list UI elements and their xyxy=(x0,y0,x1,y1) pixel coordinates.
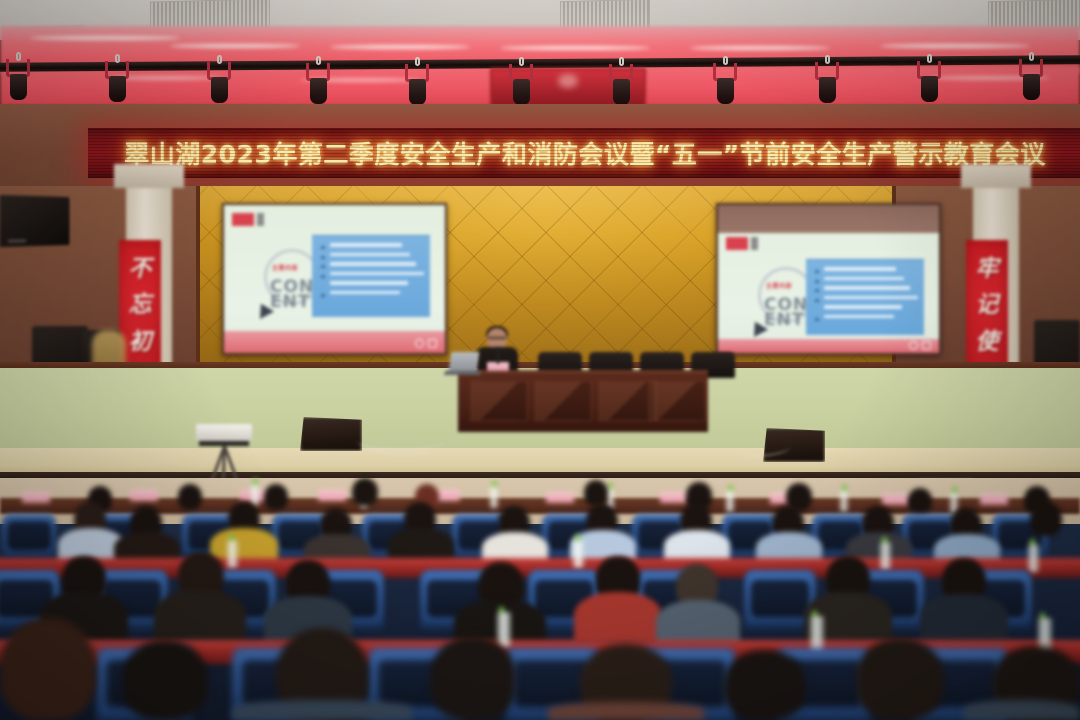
led-banner: 翠山湖2023年第二季度安全生产和消防会议暨“五一”节前安全生产警示教育会议 xyxy=(88,128,1080,178)
projector-body xyxy=(196,424,252,441)
light-can xyxy=(310,78,327,104)
slide-bullet-item xyxy=(318,253,424,259)
stage-light xyxy=(206,55,232,103)
bullet-text xyxy=(330,291,400,295)
banner-left-char-3: 初 xyxy=(129,331,152,354)
attendee-shoulders xyxy=(154,590,246,642)
stage-light xyxy=(1018,52,1044,100)
light-can xyxy=(513,79,530,105)
stage-light xyxy=(404,57,430,105)
bullet-text xyxy=(824,305,902,309)
slide-bullet-item xyxy=(318,262,424,268)
floor-monitor-left xyxy=(300,417,362,451)
screen-top-shadow xyxy=(718,205,939,233)
water-bottle xyxy=(227,540,238,568)
bullet-marker xyxy=(814,317,820,321)
light-can xyxy=(109,76,126,102)
slide-logo-gray xyxy=(751,237,758,250)
light-streak xyxy=(330,45,470,49)
stage-light xyxy=(916,54,942,102)
column-capital xyxy=(114,164,184,188)
light-can xyxy=(409,79,426,105)
bullet-marker xyxy=(320,264,326,268)
water-bottle xyxy=(497,612,511,648)
attendee-head-foreground xyxy=(856,638,944,720)
projection-screen-right: 主要内容 CONT ENTS xyxy=(716,203,941,355)
stage-light xyxy=(608,57,634,105)
attendee-head xyxy=(352,478,378,506)
banner-left-char-1: 不 xyxy=(129,258,152,281)
slide-bullet-item xyxy=(812,286,918,292)
attendee-head-foreground xyxy=(0,618,96,720)
microphone-icon xyxy=(497,348,499,364)
slide-bullet-item xyxy=(812,296,918,302)
water-bottle xyxy=(810,616,824,652)
attendee-head-foreground xyxy=(122,640,208,720)
stage-light xyxy=(508,57,534,105)
slide-logo-red xyxy=(726,237,748,250)
podium-panel xyxy=(648,381,706,421)
stage-light xyxy=(814,55,840,103)
water-bottle xyxy=(726,490,734,512)
attendee-head xyxy=(584,480,608,506)
slide-logo xyxy=(726,237,760,250)
name-placard xyxy=(882,494,910,505)
slide-footer-band xyxy=(224,331,445,353)
banner-right-char-3: 使 xyxy=(976,331,999,354)
name-placard xyxy=(546,492,574,503)
attendee-shoulders-foreground xyxy=(232,700,412,720)
slide-bullet-box xyxy=(806,259,924,335)
slide-red-tag: 主要内容 xyxy=(272,263,298,272)
led-banner-text: 翠山湖2023年第二季度安全生产和消防会议暨“五一”节前安全生产警示教育会议 xyxy=(124,135,1045,171)
slide-logo-red xyxy=(232,213,254,226)
bullet-marker xyxy=(320,274,326,278)
attendee-head-foreground xyxy=(724,650,806,720)
podium-panel xyxy=(470,381,528,421)
banner-left-char-2: 忘 xyxy=(129,294,152,317)
name-placard xyxy=(22,492,50,503)
slide-bullet-item xyxy=(318,243,424,249)
bullet-marker xyxy=(814,279,820,283)
slide-bullet-item xyxy=(812,315,918,321)
stage-light xyxy=(104,54,130,102)
wall-speaker-left xyxy=(0,195,69,247)
bullet-marker xyxy=(814,269,820,273)
light-can xyxy=(1023,74,1040,100)
bullet-text xyxy=(824,286,910,290)
bullet-text xyxy=(330,262,416,266)
slide-red-tag: 主要内容 xyxy=(766,281,792,290)
bullet-marker xyxy=(320,245,326,249)
attendee-shoulders xyxy=(574,592,662,642)
slide-footer-band xyxy=(718,339,939,353)
light-streak xyxy=(690,46,830,50)
slide-indicator-circle xyxy=(909,341,918,350)
bullet-text xyxy=(330,272,424,276)
bullet-text xyxy=(824,277,904,281)
banner-right-char-2: 记 xyxy=(976,294,999,317)
name-placard xyxy=(130,490,158,501)
light-can xyxy=(613,79,630,105)
light-streak xyxy=(30,36,180,40)
attendee-head xyxy=(264,484,288,510)
bullet-text xyxy=(824,315,894,319)
attendee-head xyxy=(178,484,202,510)
stage-light xyxy=(305,56,331,104)
bullet-text xyxy=(330,281,408,285)
slide-bullet-item xyxy=(318,272,424,278)
stage-light xyxy=(5,52,31,100)
name-placard xyxy=(318,490,346,501)
light-can xyxy=(717,78,734,104)
column-capital xyxy=(961,164,1031,188)
water-bottle xyxy=(490,486,498,508)
bullet-marker xyxy=(814,288,820,292)
attendee-shoulders-foreground xyxy=(548,702,704,720)
speaker-brand-label xyxy=(8,239,26,243)
water-bottle xyxy=(573,540,584,568)
bullet-text xyxy=(824,296,918,300)
attendee-shoulders xyxy=(920,594,1008,642)
banner-right-char-1: 牢 xyxy=(976,258,999,281)
slide-bullet-item xyxy=(812,305,918,311)
slide-bullet-item xyxy=(318,291,424,297)
slide-bullet-box xyxy=(312,235,430,317)
water-bottle xyxy=(251,484,259,506)
slide-bullet-item xyxy=(318,281,424,287)
light-streak xyxy=(170,44,300,48)
attendee-shoulders-foreground xyxy=(964,700,1080,720)
light-streak xyxy=(500,46,650,50)
projection-screen-left: 主要内容 CONT ENTS xyxy=(222,203,447,355)
light-can xyxy=(10,74,27,100)
slide-indicator-square xyxy=(428,339,437,348)
attendee-head-foreground xyxy=(430,636,516,720)
bullet-text xyxy=(824,267,896,271)
slide-logo xyxy=(232,213,266,226)
slide-page-indicators xyxy=(909,341,931,350)
slide-indicator-square xyxy=(922,341,931,350)
bullet-marker xyxy=(814,298,820,302)
slide-page-indicators xyxy=(415,339,437,348)
water-bottle xyxy=(880,542,891,570)
attendee-head xyxy=(1030,502,1062,536)
water-bottle xyxy=(840,490,848,512)
slide-bullet-item xyxy=(812,267,918,273)
light-can xyxy=(819,77,836,103)
water-bottle xyxy=(1028,544,1039,572)
bullet-marker xyxy=(320,255,326,259)
conference-photo: 翠山湖2023年第二季度安全生产和消防会议暨“五一”节前安全生产警示教育会议 主… xyxy=(0,0,1080,720)
bullet-marker xyxy=(320,293,326,297)
bullet-text xyxy=(330,243,402,247)
slide-bullet-item xyxy=(812,277,918,283)
podium-table xyxy=(458,370,708,432)
slide-indicator-circle xyxy=(415,339,424,348)
glasses-icon xyxy=(488,337,506,341)
auditorium-seat xyxy=(2,514,56,560)
stage-light xyxy=(712,56,738,104)
name-placard xyxy=(980,494,1008,505)
attendee-head xyxy=(908,488,932,514)
podium-panel xyxy=(534,381,592,421)
light-streak xyxy=(880,44,1030,48)
light-can xyxy=(211,77,228,103)
laptop-icon xyxy=(449,352,480,371)
slide-logo-gray xyxy=(257,213,264,226)
name-placard xyxy=(660,492,688,503)
bullet-text xyxy=(330,253,410,257)
light-can xyxy=(921,76,938,102)
